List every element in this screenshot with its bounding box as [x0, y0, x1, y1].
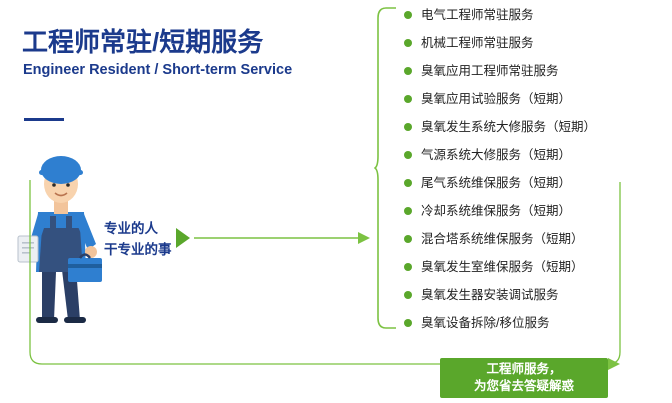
title-divider: [24, 118, 64, 121]
bullet-icon: [404, 39, 412, 47]
worker-helmet-brim: [39, 170, 83, 175]
loop-path: [30, 180, 620, 364]
bullet-icon: [404, 67, 412, 75]
bullet-icon: [404, 123, 412, 131]
callout-line-1: 工程师服务，: [486, 361, 561, 378]
bullet-icon: [404, 11, 412, 19]
service-label: 臭氧发生系统大修服务（短期）: [421, 118, 596, 136]
diagram-canvas: 工程师常驻/短期服务 Engineer Resident / Short-ter…: [0, 0, 672, 403]
list-item[interactable]: 机械工程师常驻服务: [404, 34, 534, 52]
list-item[interactable]: 臭氧应用工程师常驻服务: [404, 62, 559, 80]
callout-line-2: 为您省去答疑解惑: [474, 378, 574, 395]
bullet-icon: [404, 95, 412, 103]
list-item[interactable]: 臭氧应用试验服务（短期）: [404, 90, 571, 108]
list-item[interactable]: 气源系统大修服务（短期）: [404, 146, 571, 164]
service-label: 气源系统大修服务（短期）: [421, 146, 571, 164]
callout-box[interactable]: 工程师服务， 为您省去答疑解惑: [440, 358, 608, 398]
service-label: 机械工程师常驻服务: [421, 34, 534, 52]
service-label: 臭氧应用工程师常驻服务: [421, 62, 559, 80]
service-label: 臭氧应用试验服务（短期）: [421, 90, 571, 108]
list-item[interactable]: 臭氧发生系统大修服务（短期）: [404, 118, 596, 136]
service-label: 电气工程师常驻服务: [421, 6, 534, 24]
page-title-cn: 工程师常驻/短期服务: [22, 22, 263, 59]
page-title-en: Engineer Resident / Short-term Service: [23, 62, 292, 78]
bullet-icon: [404, 151, 412, 159]
list-item[interactable]: 电气工程师常驻服务: [404, 6, 534, 24]
